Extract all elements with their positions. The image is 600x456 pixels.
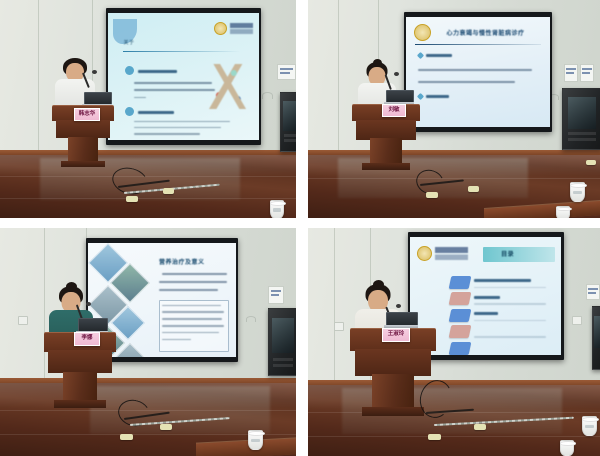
hair-bun [373, 59, 382, 67]
slide-logo [214, 21, 253, 36]
av-cabinet [592, 306, 600, 370]
photo-panel-top-right: 心力衰竭与慢性肾脏病诊疗 [308, 0, 600, 218]
slide-title: 关于 [123, 39, 213, 50]
name-placard: 李娜 [74, 332, 100, 346]
av-cabinet [268, 308, 296, 376]
contents-label [474, 296, 500, 299]
wall-hook [262, 92, 273, 99]
photo-panel-bottom-right: 目录 [308, 228, 600, 456]
slide-title: 目录 [501, 249, 543, 261]
wall-hook [246, 316, 256, 322]
paper-cup [270, 200, 284, 218]
laptop [386, 312, 416, 329]
av-cabinet [280, 92, 296, 152]
photo-panel-top-left: 关于 [0, 0, 296, 218]
photo-collage: 关于 [0, 0, 600, 456]
slide-top-left: 关于 [108, 13, 258, 139]
name-placard: 王淑玲 [382, 328, 410, 342]
contents-chip [448, 292, 470, 305]
wall-outlet [334, 322, 344, 331]
hair-bun [66, 282, 77, 291]
contents-label [474, 279, 531, 282]
wall-notice-sign [564, 64, 578, 82]
conference-room-photo: 心力衰竭与慢性肾脏病诊疗 [308, 0, 600, 218]
slide-title: 心力衰竭与慢性肾脏病诊疗 [446, 28, 535, 41]
conference-room-photo: 关于 [0, 0, 296, 218]
bullet-heading [426, 95, 449, 98]
photo-panel-bottom-left: 营养治疗及意义 [0, 228, 296, 456]
bullet-marker [125, 66, 134, 75]
paper-cup [582, 416, 597, 436]
contents-chip [448, 342, 470, 355]
bullet-heading [138, 111, 174, 114]
slide-logo [414, 23, 437, 41]
wall-notice-sign [277, 64, 296, 80]
conference-room-photo: 营养治疗及意义 [0, 228, 296, 456]
paper-cup [248, 430, 263, 450]
slide-figure [205, 64, 253, 109]
slide-logo [417, 244, 468, 263]
paper-cup [560, 440, 574, 456]
paper-cup [570, 182, 585, 202]
projection-screen: 关于 [106, 8, 261, 145]
wall-notice-sign [586, 284, 600, 300]
slide-top-right: 心力衰竭与慢性肾脏病诊疗 [406, 17, 549, 127]
wall-notice-sign [580, 64, 594, 82]
bullet-marker [417, 93, 424, 100]
name-placard: 刘敏 [382, 104, 406, 117]
name-placard: 韩志华 [74, 108, 100, 121]
bullet-marker [417, 52, 424, 59]
university-seal-icon [414, 24, 431, 41]
conference-room-photo: 目录 [308, 228, 600, 456]
contents-chip [448, 276, 470, 289]
bullet-heading [426, 54, 452, 57]
hair-bun [373, 280, 384, 289]
contents-label [474, 312, 498, 315]
bullet-marker [125, 107, 134, 116]
av-cabinet [562, 88, 600, 150]
bullet-heading [138, 70, 177, 73]
projection-screen: 心力衰竭与慢性肾脏病诊疗 [404, 12, 552, 132]
contents-chip [448, 309, 470, 322]
wall-outlet [572, 316, 582, 325]
paper-cup [556, 206, 570, 218]
wall-outlet [18, 316, 28, 325]
university-seal-icon [417, 246, 432, 261]
contents-chip [448, 325, 470, 338]
wall-notice-sign [268, 286, 284, 304]
university-seal-icon [214, 22, 227, 35]
slide-title: 营养治疗及意义 [159, 257, 227, 268]
